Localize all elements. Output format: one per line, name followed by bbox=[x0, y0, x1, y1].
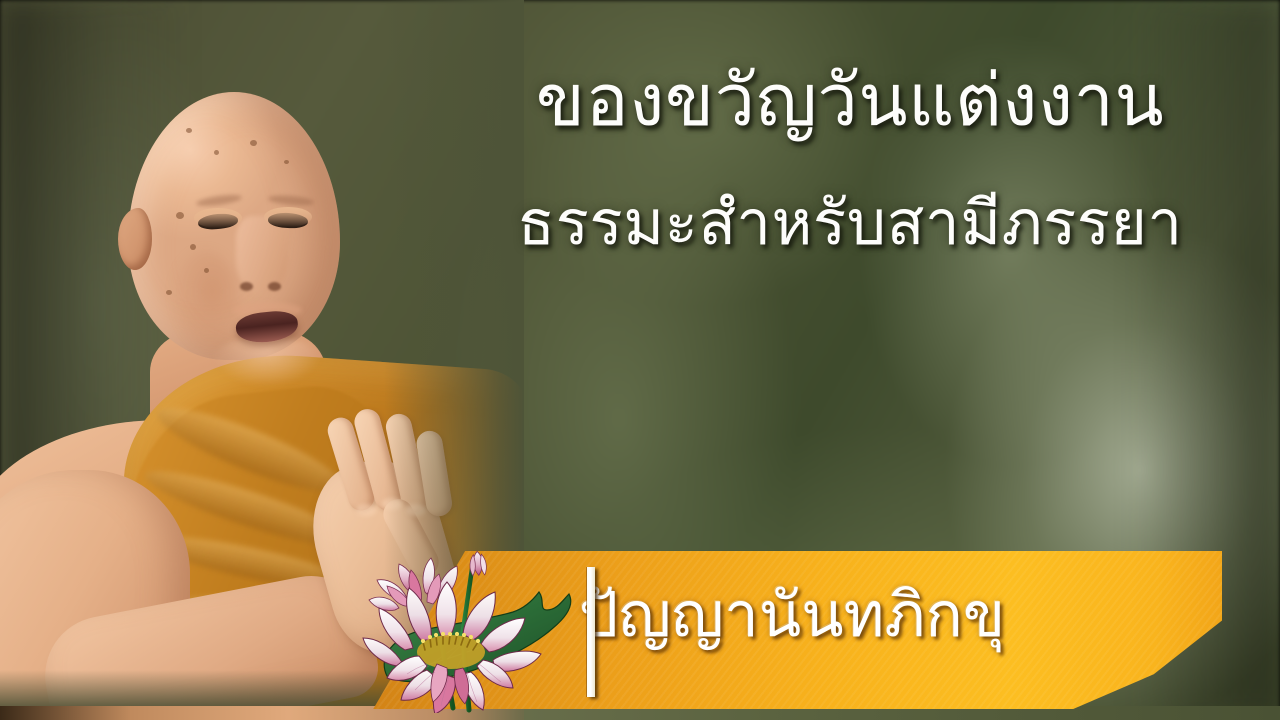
skin-spot bbox=[284, 160, 289, 164]
title-line-1: ของขวัญวันแต่งงาน bbox=[430, 58, 1270, 146]
title-block: ของขวัญวันแต่งงาน ธรรมะสำหรับสามีภรรยา bbox=[430, 58, 1270, 261]
monk-ear bbox=[118, 208, 152, 270]
monk-eyelid-left bbox=[194, 208, 242, 228]
skin-spot bbox=[190, 244, 196, 250]
monk-nostril-right bbox=[268, 282, 281, 291]
monk-chin bbox=[212, 336, 322, 386]
skin-spot bbox=[214, 150, 219, 155]
monk-nostril-left bbox=[240, 282, 253, 291]
monk-cheek-shadow bbox=[170, 250, 240, 354]
speaker-name: ปัญญานันทภิกขุ bbox=[579, 577, 1119, 655]
hand-knuckle bbox=[356, 504, 376, 516]
lotus-bud bbox=[469, 551, 487, 576]
skin-spot bbox=[166, 290, 172, 295]
monk-eyelid-right bbox=[264, 207, 312, 227]
skin-spot bbox=[176, 212, 184, 219]
thumbnail-canvas: ของขวัญวันแต่งงาน ธรรมะสำหรับสามีภรรยา ป… bbox=[0, 0, 1280, 720]
lotus-flower-icon bbox=[357, 548, 607, 713]
skin-spot bbox=[250, 140, 257, 146]
title-line-2: ธรรมะสำหรับสามีภรรยา bbox=[430, 186, 1270, 262]
skin-spot bbox=[186, 128, 192, 133]
skin-spot bbox=[204, 268, 209, 273]
